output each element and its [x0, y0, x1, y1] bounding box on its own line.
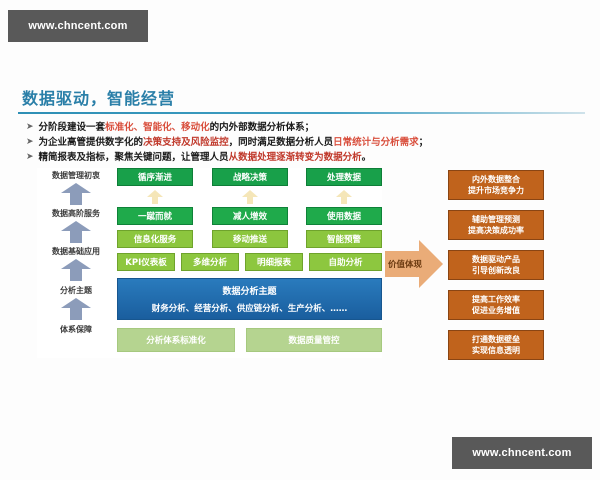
analysis-theme-box[interactable]: 数据分析主题 财务分析、经营分析、供应链分析、生产分析、…… [117, 278, 382, 320]
watermark-top: www.chncent.com [8, 10, 148, 42]
axis-up-arrow-icon [61, 298, 91, 320]
outcome-line1: 数据驱动产品 [472, 254, 520, 265]
bullet-text-3: 精简报表及指标，聚焦关键问题，让管理人员从数据处理逐渐转变为数据分析。 [39, 150, 372, 165]
slide-canvas: www.chncent.com 数据驱动，智能经营 ➤ 分阶段建设一套标准化、智… [0, 0, 600, 480]
outcome-line1: 打通数据壁垒 [472, 334, 520, 345]
bullet-item-3: ➤ 精简报表及指标，聚焦关键问题，让管理人员从数据处理逐渐转变为数据分析。 [26, 150, 586, 165]
cell-r2-c3[interactable]: 使用数据 [306, 207, 382, 225]
cell-r6-c1[interactable]: 分析体系标准化 [117, 328, 235, 352]
outcome-line1: 提高工作效率 [472, 294, 520, 305]
analysis-theme-title: 数据分析主题 [222, 284, 276, 297]
cell-r4-c1[interactable]: KPI仪表板 [117, 253, 175, 271]
axis-up-arrow-icon [61, 183, 91, 205]
bullet-item-2: ➤ 为企业高管提供数字化的决策支持及风险监控，同时满足数据分析人员日常统计与分析… [26, 135, 586, 150]
cell-r4-c4[interactable]: 自助分析 [309, 253, 382, 271]
bullet-marker-icon: ➤ [26, 120, 34, 135]
value-arrow-label: 价值体现 [386, 258, 424, 270]
bullet-list: ➤ 分阶段建设一套标准化、智能化、移动化的内外部数据分析体系； ➤ 为企业高管提… [26, 120, 586, 165]
outcome-line2: 实现信息透明 [472, 345, 520, 356]
cell-r3-c2[interactable]: 移动推送 [212, 230, 288, 248]
page-title: 数据驱动，智能经营 [22, 85, 175, 109]
cell-r2-c2[interactable]: 减人增效 [212, 207, 288, 225]
bullet-text-1: 分阶段建设一套标准化、智能化、移动化的内外部数据分析体系； [39, 120, 315, 135]
analysis-theme-subtitle: 财务分析、经营分析、供应链分析、生产分析、…… [152, 302, 348, 314]
outcome-item-3[interactable]: 提高工作效率 促进业务增值 [448, 290, 544, 320]
cell-r3-c1[interactable]: 信息化服务 [117, 230, 193, 248]
watermark-bottom: www.chncent.com [452, 437, 592, 469]
cell-r3-c3[interactable]: 智能预警 [306, 230, 382, 248]
axis-label-2: 数据基础应用 [37, 246, 115, 257]
outcome-item-4[interactable]: 打通数据壁垒 实现信息透明 [448, 330, 544, 360]
up-arrow-icon-1 [147, 190, 163, 204]
capability-matrix: 循序渐进 战略决策 处理数据 一蹴而就 减人增效 使用数据 信息化服务 移动推送… [117, 168, 382, 358]
outcome-item-0[interactable]: 内外数据整合 提升市场竞争力 [448, 170, 544, 200]
outcome-line2: 提高决策成功率 [468, 225, 524, 236]
bullet-text-2: 为企业高管提供数字化的决策支持及风险监控，同时满足数据分析人员日常统计与分析需求… [39, 135, 429, 150]
axis-label-3: 分析主题 [37, 285, 115, 296]
cell-r1-c2[interactable]: 战略决策 [212, 168, 288, 186]
axis-label-4: 体系保障 [37, 324, 115, 335]
bullet-marker-icon: ➤ [26, 135, 34, 150]
outcome-item-1[interactable]: 辅助管理预测 提高决策成功率 [448, 210, 544, 240]
cell-r4-c3[interactable]: 明细报表 [245, 253, 303, 271]
axis-up-arrow-icon [61, 221, 91, 243]
outcome-item-2[interactable]: 数据驱动产品 引导创新改良 [448, 250, 544, 280]
axis-up-arrow-icon [61, 259, 91, 281]
maturity-axis: 数据管理初衷 数据高阶服务 数据基础应用 分析主题 体系保障 [37, 168, 115, 358]
outcome-line1: 辅助管理预测 [472, 214, 520, 225]
bullet-marker-icon: ➤ [26, 150, 34, 165]
up-arrow-icon-3 [336, 190, 352, 204]
outcome-list: 内外数据整合 提升市场竞争力 辅助管理预测 提高决策成功率 数据驱动产品 引导创… [448, 170, 544, 360]
outcome-line1: 内外数据整合 [472, 174, 520, 185]
axis-label-1: 数据高阶服务 [37, 208, 115, 219]
cell-r1-c3[interactable]: 处理数据 [306, 168, 382, 186]
outcome-line2: 引导创新改良 [472, 265, 520, 276]
bullet-item-1: ➤ 分阶段建设一套标准化、智能化、移动化的内外部数据分析体系； [26, 120, 586, 135]
cell-r2-c1[interactable]: 一蹴而就 [117, 207, 193, 225]
outcome-line2: 提升市场竞争力 [468, 185, 524, 196]
axis-label-0: 数据管理初衷 [37, 170, 115, 181]
cell-r1-c1[interactable]: 循序渐进 [117, 168, 193, 186]
up-arrow-icon-2 [242, 190, 258, 204]
outcome-line2: 促进业务增值 [472, 305, 520, 316]
cell-r6-c2[interactable]: 数据质量管控 [246, 328, 382, 352]
title-underline [18, 112, 585, 114]
cell-r4-c2[interactable]: 多维分析 [181, 253, 239, 271]
value-arrow-icon: 价值体现 [385, 240, 443, 288]
